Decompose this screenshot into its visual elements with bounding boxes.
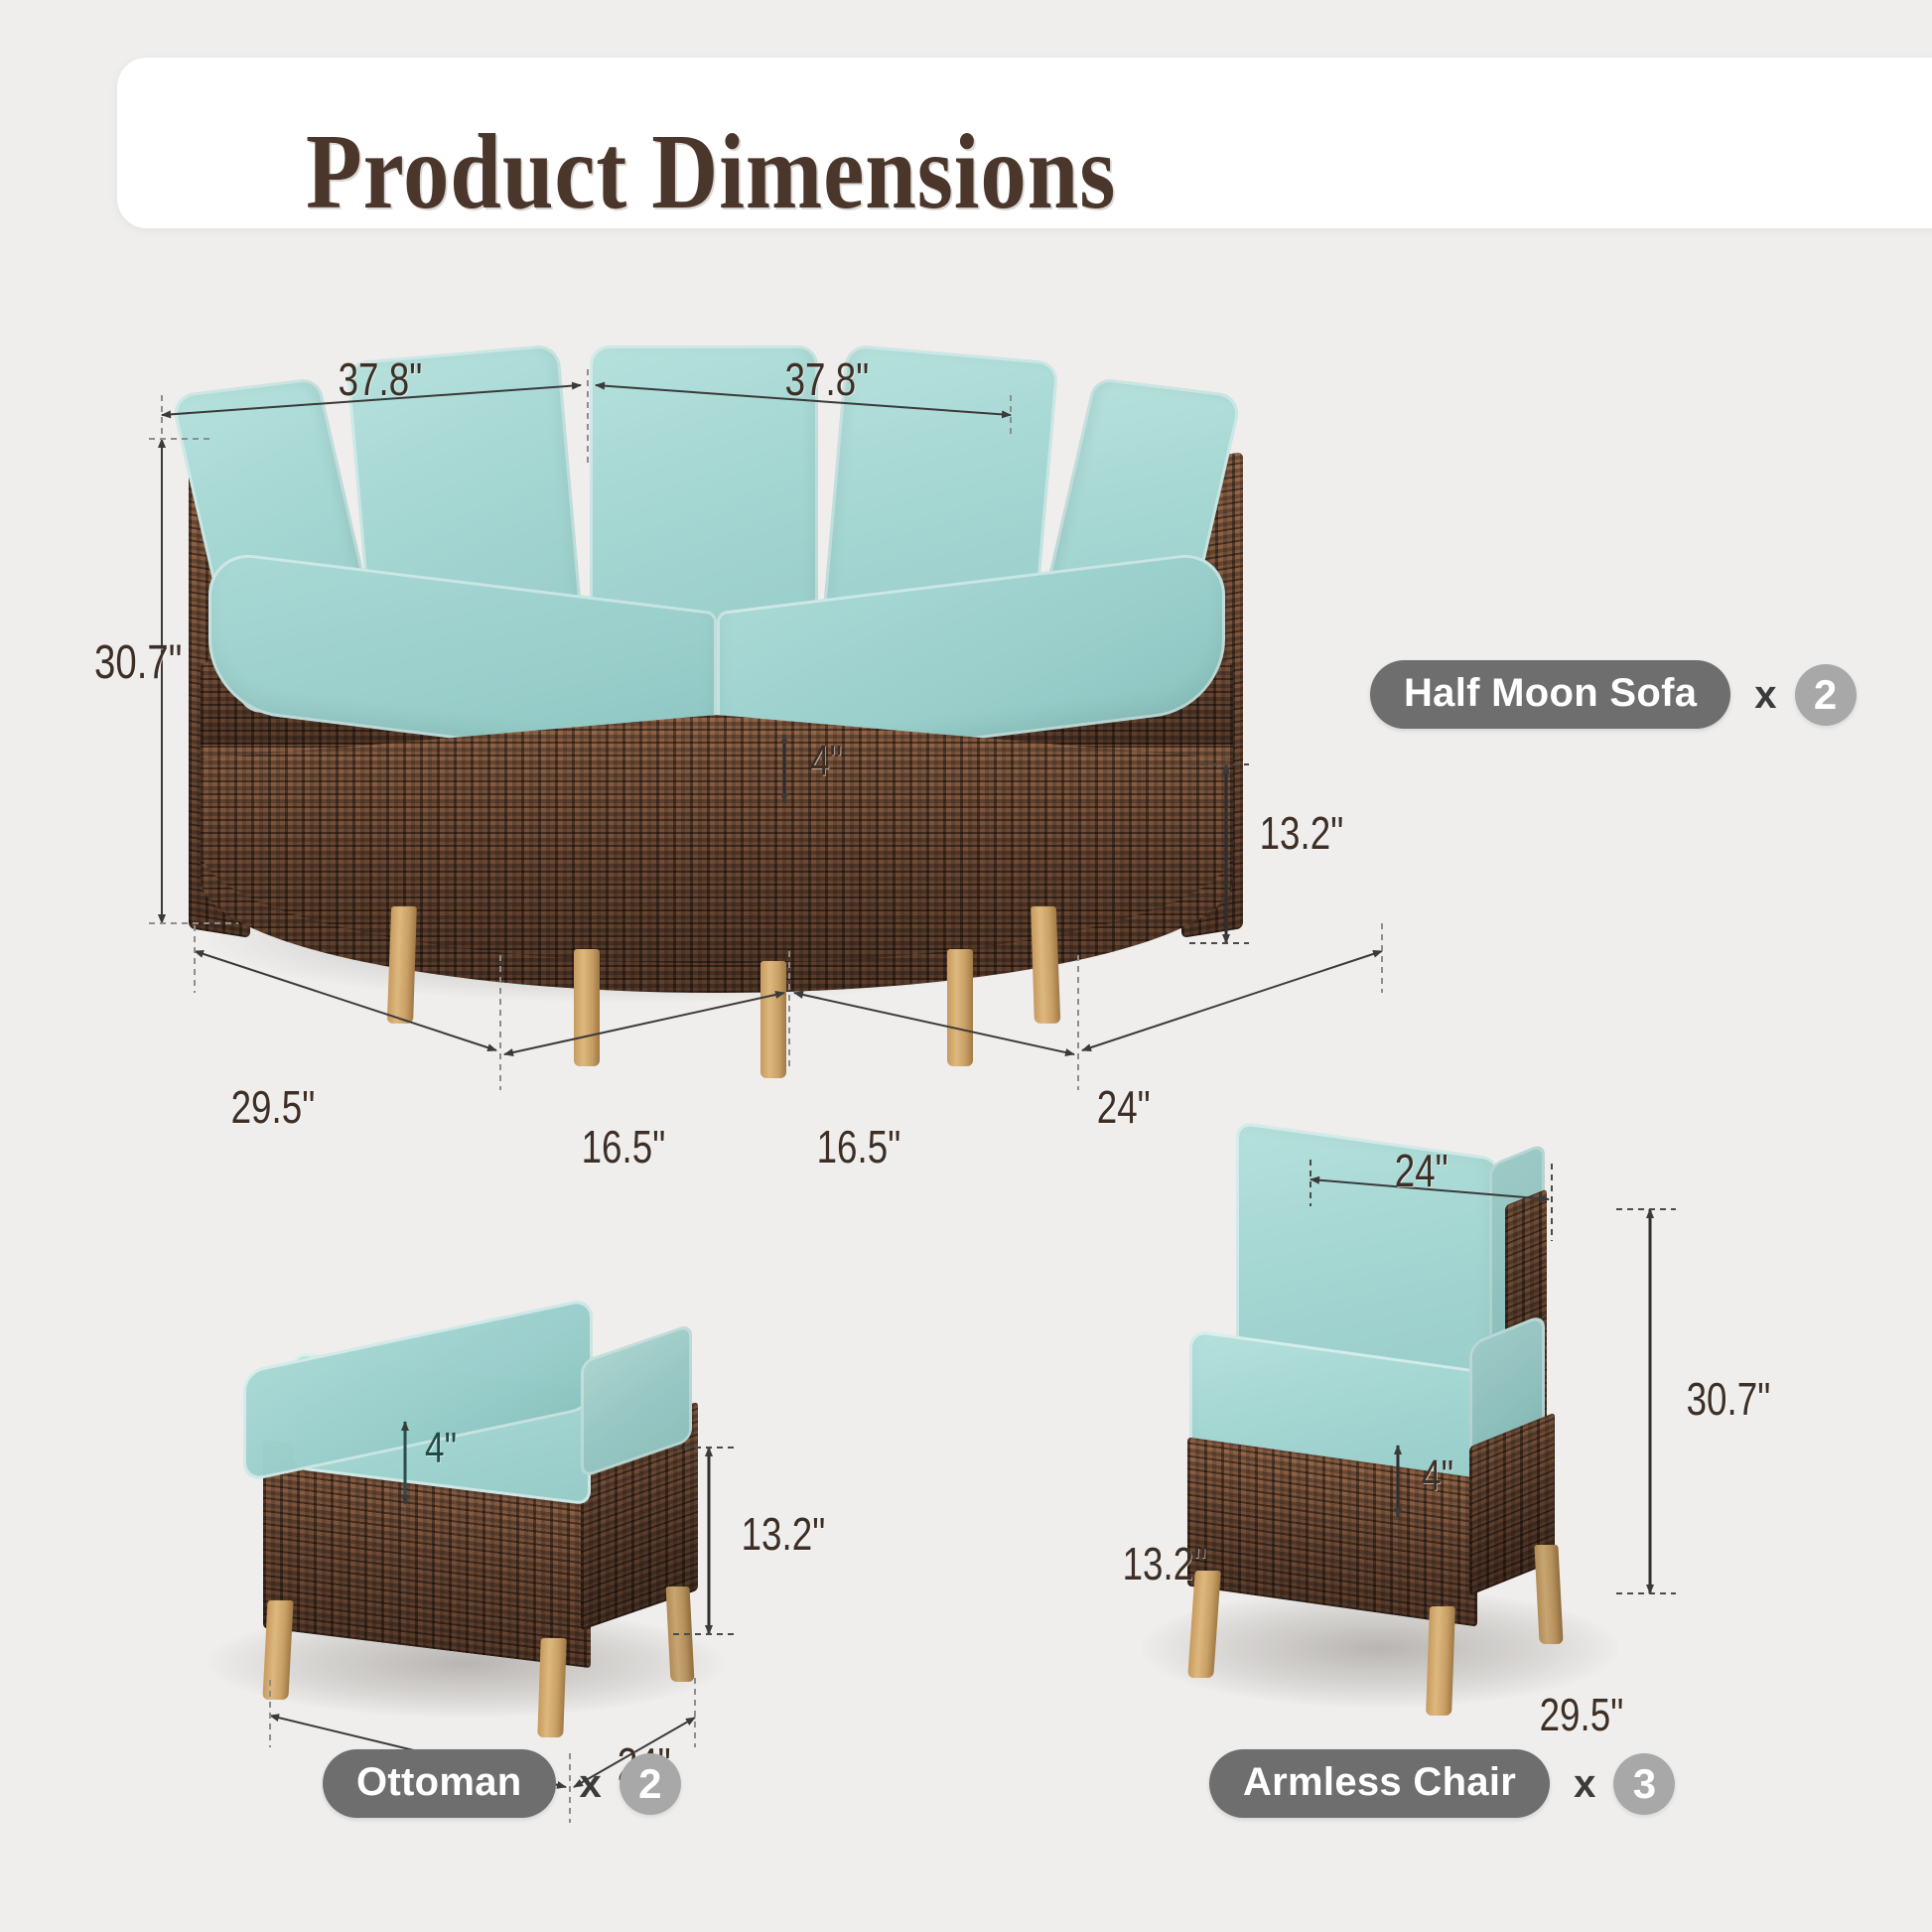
- ottoman-leg-front-left: [262, 1600, 293, 1700]
- sofa-dim-right-depth: 24": [1097, 1080, 1151, 1134]
- ottoman-name-pill: Ottoman: [323, 1749, 556, 1818]
- half-moon-sofa-badge: Half Moon Sofa x 2: [1370, 660, 1857, 729]
- half-moon-sofa-quantity: 2: [1795, 664, 1857, 726]
- sofa-dim-top-left-width: 37.8": [339, 352, 423, 406]
- page-title: Product Dimensions: [306, 119, 1116, 226]
- armless-chair-dim-seat-height: 13.2": [1123, 1537, 1207, 1590]
- sofa-leg-2: [574, 949, 600, 1066]
- sofa-dim-cushion-thickness: 4": [810, 737, 842, 786]
- infographic-canvas: Product Dimensions: [0, 0, 1932, 1932]
- sofa-leg-5: [1031, 906, 1060, 1024]
- sofa-leg-1: [387, 906, 417, 1024]
- armless-chair-name-pill: Armless Chair: [1209, 1749, 1550, 1818]
- ottoman-badge: Ottoman x 2: [323, 1749, 681, 1818]
- sofa-dim-base-left: 16.5": [582, 1120, 666, 1173]
- sofa-dim-left-depth: 29.5": [231, 1080, 316, 1134]
- ottoman-leg-front-right: [537, 1638, 566, 1737]
- armless-chair-dim-overall-height: 30.7": [1687, 1372, 1771, 1426]
- ottoman-quantity: 2: [620, 1753, 681, 1815]
- armless-chair-badge: Armless Chair x 3: [1209, 1749, 1675, 1818]
- sofa-dim-top-right-width: 37.8": [785, 352, 870, 406]
- ottoman-dim-overall-height: 13.2": [742, 1507, 826, 1561]
- sofa-dim-overall-height: 30.7": [94, 635, 182, 690]
- armless-chair-leg-front-right: [1426, 1606, 1455, 1716]
- sofa-leg-4: [947, 949, 973, 1066]
- armless-chair-quantity: 3: [1613, 1753, 1675, 1815]
- sofa-leg-3: [760, 961, 786, 1078]
- armless-chair-dim-side-depth: 29.5": [1540, 1688, 1624, 1741]
- sofa-dim-base-right: 16.5": [817, 1120, 901, 1173]
- ottoman-leg-back-right: [665, 1587, 694, 1682]
- armless-chair-illustration: [1172, 1142, 1648, 1698]
- half-moon-sofa-multiplier: x: [1754, 675, 1776, 715]
- armless-chair-leg-back-right: [1534, 1545, 1563, 1644]
- half-moon-sofa-illustration: [179, 397, 1261, 1013]
- armless-chair-dim-back-width: 24": [1395, 1144, 1449, 1197]
- armless-chair-dim-cushion-thickness: 4": [1422, 1451, 1453, 1501]
- title-banner: Product Dimensions: [117, 58, 1932, 228]
- ottoman-illustration: [253, 1330, 720, 1698]
- sofa-dim-seat-height: 13.2": [1260, 806, 1344, 860]
- sofa-front-apron: [201, 715, 1233, 963]
- ottoman-dim-cushion-thickness: 4": [425, 1424, 457, 1473]
- ottoman-multiplier: x: [580, 1764, 602, 1804]
- half-moon-sofa-name-pill: Half Moon Sofa: [1370, 660, 1730, 729]
- armless-chair-multiplier: x: [1574, 1764, 1595, 1804]
